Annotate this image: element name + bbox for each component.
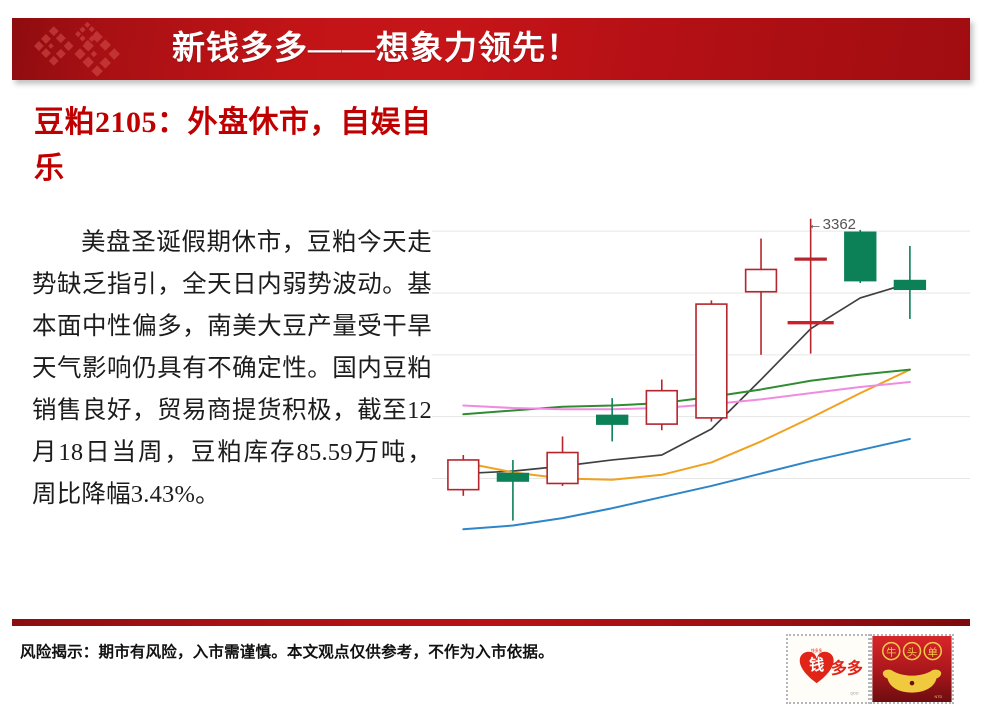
svg-text:QDD: QDD [850, 691, 859, 695]
niutoudan-stamp: 牛 头 单 NTD [870, 634, 954, 704]
slide-root: 新钱多多——想象力领先！ 豆粕2105：外盘休市，自娱自乐 美盘圣诞假期休市，豆… [0, 0, 982, 720]
candle [795, 219, 826, 354]
candle [498, 460, 529, 521]
article-body: 美盘圣诞假期休市，豆粕今天走势缺乏指引，全天日内弱势波动。基本面中性偏多，南美大… [32, 222, 432, 516]
candle [696, 300, 727, 421]
candlestick-chart: ←3362 [432, 168, 970, 540]
qianduoduo-stamp: 钱 多多 钱多多 QDD [786, 634, 870, 704]
candle [895, 246, 926, 319]
svg-text:NTD: NTD [935, 695, 943, 699]
svg-text:钱多多: 钱多多 [811, 648, 823, 653]
candle [746, 239, 777, 355]
svg-text:钱: 钱 [809, 656, 824, 674]
svg-text:头: 头 [907, 647, 917, 659]
candle [547, 436, 578, 485]
risk-disclosure-note: 风险揭示：期市有风险，入市需谨慎。本文观点仅供参考，不作为入市依据。 [20, 641, 760, 665]
qianduoduo-diamond-logo-icon [28, 20, 156, 78]
header-title: 新钱多多——想象力领先！ [172, 24, 580, 74]
header-banner: 新钱多多——想象力领先！ [12, 18, 970, 80]
candle [448, 455, 479, 496]
chart-candles [448, 219, 925, 521]
candle [845, 230, 876, 283]
svg-text:单: 单 [928, 647, 938, 659]
svg-text:牛: 牛 [886, 646, 896, 659]
candle [646, 380, 677, 431]
price-annotation-label: ←3362 [808, 216, 856, 233]
footer-divider [12, 619, 970, 626]
svg-text:多多: 多多 [831, 659, 863, 678]
page-title: 豆粕2105：外盘休市，自娱自乐 [34, 100, 434, 192]
chart-ma-lines [463, 283, 910, 529]
footer-stamps: 钱 多多 钱多多 QDD 牛 头 [786, 634, 954, 704]
